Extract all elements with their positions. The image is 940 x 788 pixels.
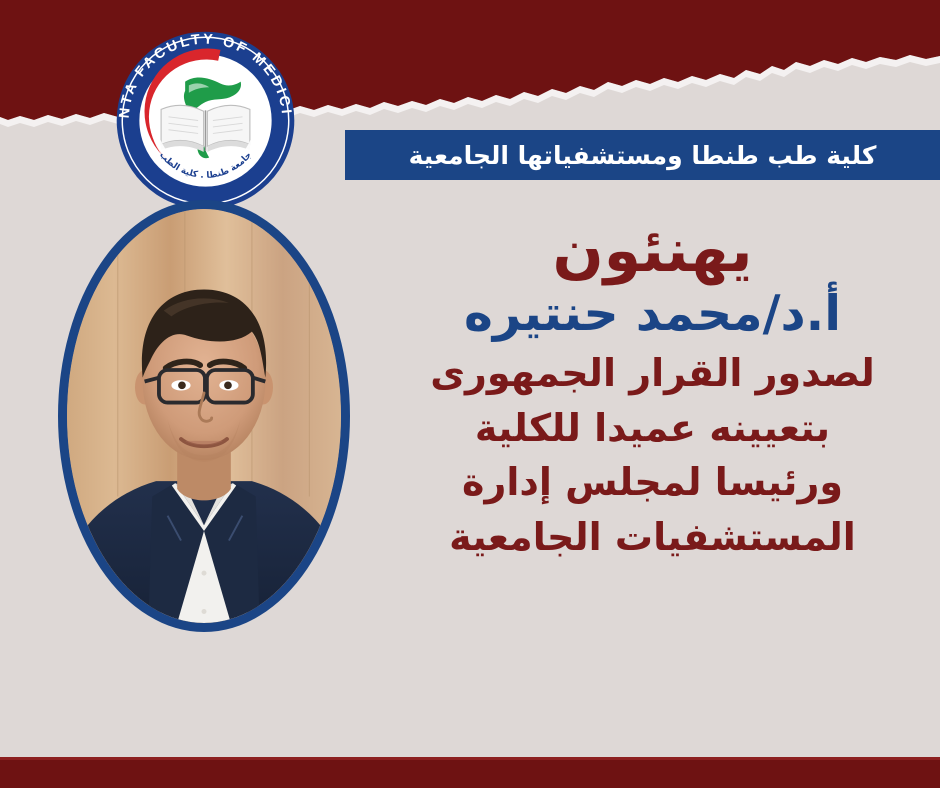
faculty-title-text: كلية طب طنطا ومستشفياتها الجامعية (409, 141, 877, 170)
message-line-1: لصدور القرار الجمهورى (380, 352, 925, 395)
portrait-container (58, 200, 350, 632)
congratulation-word: يهنئون (380, 218, 925, 285)
portrait-oval-frame (58, 200, 350, 632)
tanta-faculty-of-medicine-logo: TANTA FACULTY OF MEDICINE جامعة طنطا . ك… (113, 28, 298, 213)
bottom-red-band (0, 760, 940, 788)
message-line-3: ورئيسا لمجلس إدارة (380, 461, 925, 504)
honoree-name: أ.د/محمد حنتيره (380, 287, 925, 342)
congratulation-poster: TANTA FACULTY OF MEDICINE جامعة طنطا . ك… (0, 0, 940, 788)
message-line-2: بتعيينه عميدا للكلية (380, 407, 925, 450)
message-line-4: المستشفيات الجامعية (380, 516, 925, 559)
message-text-column: يهنئون أ.د/محمد حنتيره لصدور القرار الجم… (380, 218, 925, 570)
dean-portrait-photo (67, 209, 341, 623)
faculty-title-banner: كلية طب طنطا ومستشفياتها الجامعية (345, 130, 940, 180)
